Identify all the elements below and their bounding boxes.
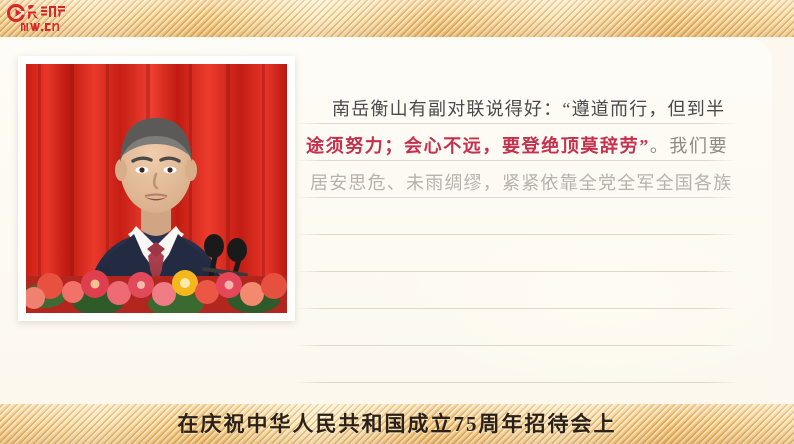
quote-block: 南岳衡山有副对联说得好：“遵道而行，但到半 途须努力；会心不远，要登绝顶莫辞劳”… — [296, 37, 738, 202]
portrait-photo-icon — [26, 64, 287, 313]
gmw-logo-icon[interactable] — [6, 2, 68, 34]
event-caption: 在庆祝中华人民共和国成立75周年招待会上 — [0, 404, 794, 444]
quote-line-3: 居安思危、未雨绸缪，紧紧依靠全党全军全国各族 — [296, 165, 738, 202]
quote-line-2: 途须努力；会心不远，要登绝顶莫辞劳”。我们要 — [296, 128, 738, 165]
speaker-photo — [26, 64, 287, 313]
top-band-sheen — [0, 0, 794, 37]
slide-canvas: 南岳衡山有副对联说得好：“遵道而行，但到半 途须努力；会心不远，要登绝顶莫辞劳”… — [0, 0, 794, 444]
quote-line-2-tail: 。我们要 — [650, 136, 728, 156]
photo-frame[interactable] — [18, 56, 295, 321]
quote-line-1: 南岳衡山有副对联说得好：“遵道而行，但到半 — [296, 91, 738, 128]
quote-line-2-red: 途须努力；会心不远，要登绝顶莫辞劳” — [306, 136, 650, 156]
top-gold-band — [0, 0, 794, 37]
